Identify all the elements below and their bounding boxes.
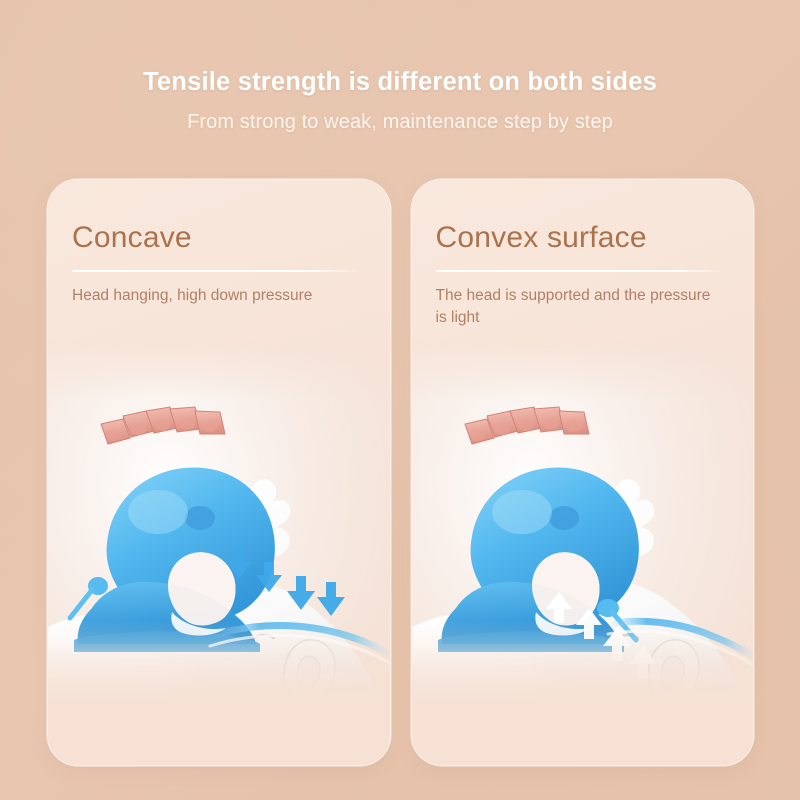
card-concave[interactable]: Concave Head hanging, high down pressure: [48, 180, 390, 765]
comparison-cards: Concave Head hanging, high down pressure: [48, 180, 753, 765]
card-concave-divider: [72, 270, 362, 272]
page-title: Tensile strength is different on both si…: [143, 68, 657, 97]
card-convex-description: The head is supported and the pressure i…: [436, 285, 714, 329]
page-subtitle: From strong to weak, maintenance step by…: [187, 111, 613, 134]
header: Tensile strength is different on both si…: [0, 0, 800, 165]
card-convex[interactable]: Convex surface The head is supported and…: [412, 180, 754, 765]
card-concave-description: Head hanging, high down pressure: [72, 285, 350, 307]
card-concave-header: Concave Head hanging, high down pressure: [48, 180, 390, 307]
card-convex-title: Convex surface: [436, 222, 730, 254]
card-convex-header: Convex surface The head is supported and…: [412, 180, 754, 329]
card-convex-illustration: [412, 340, 754, 765]
card-convex-divider: [436, 270, 726, 272]
card-concave-illustration: [48, 340, 390, 765]
card-concave-title: Concave: [72, 222, 366, 254]
